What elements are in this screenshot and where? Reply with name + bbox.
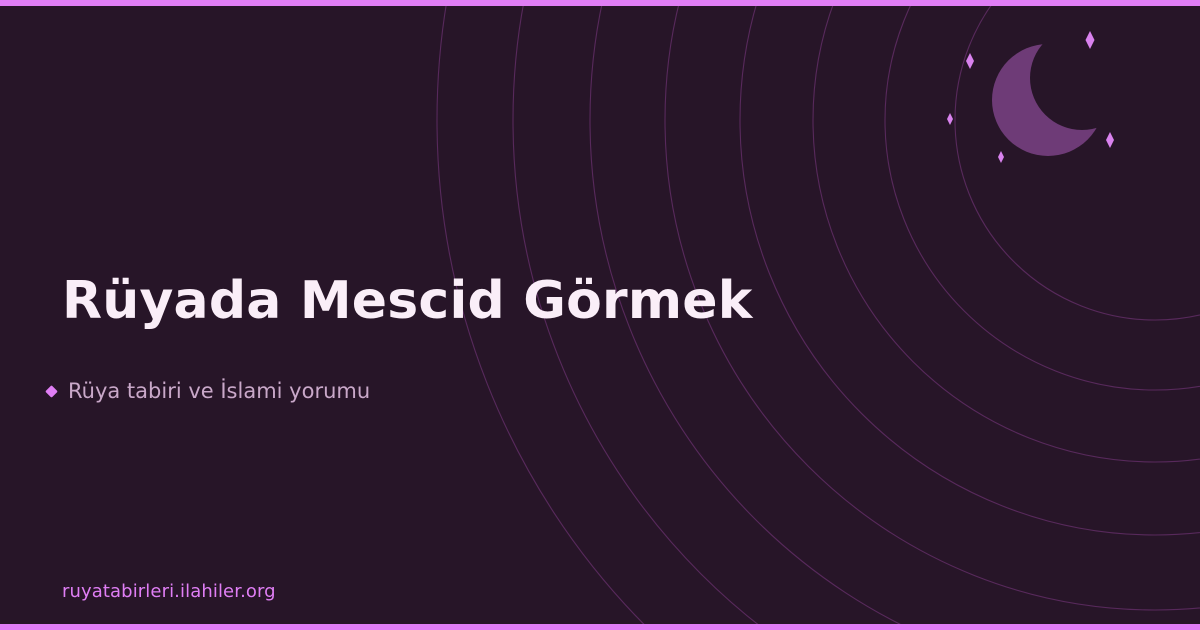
social-share-card: Rüyada Mescid Görmek Rüya tabiri ve İsla… [0, 0, 1200, 630]
star-sparkles [947, 31, 1114, 163]
bottom-accent-rule [0, 624, 1200, 630]
crescent-moon-icon [980, 30, 1120, 175]
list-item-label: Rüya tabiri ve İslami yorumu [68, 378, 370, 405]
card-content: Rüyada Mescid Görmek Rüya tabiri ve İsla… [62, 0, 822, 630]
diamond-bullet-icon [45, 385, 58, 398]
site-url-label: ruyatabirleri.ilahiler.org [62, 581, 276, 602]
subtitle-bullet-list: Rüya tabiri ve İslami yorumu [44, 378, 370, 405]
top-accent-rule [0, 0, 1200, 6]
list-item: Rüya tabiri ve İslami yorumu [44, 378, 370, 405]
page-title: Rüyada Mescid Görmek [62, 272, 753, 332]
